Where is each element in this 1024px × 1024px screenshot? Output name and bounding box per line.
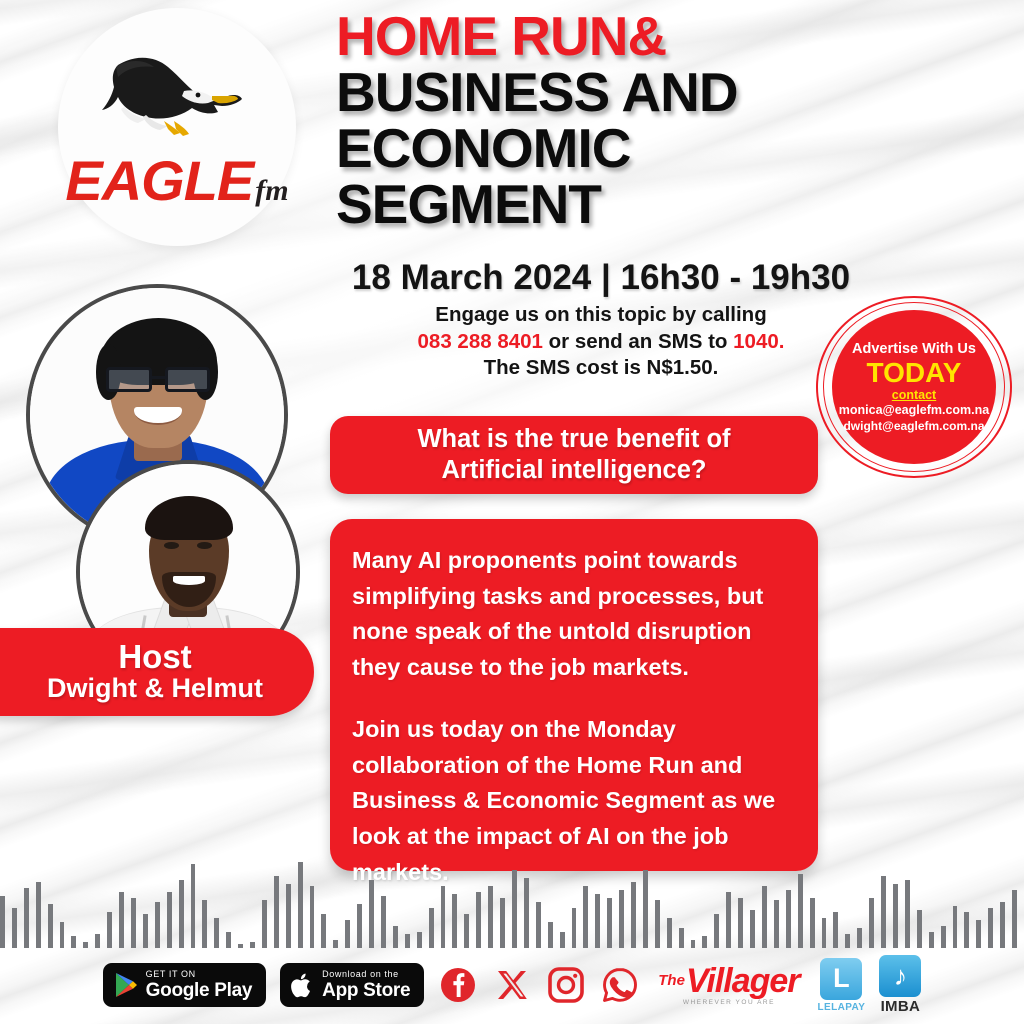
equalizer-bar <box>202 900 207 948</box>
equalizer-bar <box>357 904 362 948</box>
event-datetime: 18 March 2024 | 16h30 - 19h30 <box>336 258 866 298</box>
equalizer-bar <box>310 886 315 948</box>
equalizer-bar <box>1000 902 1005 948</box>
equalizer-bar <box>381 896 386 948</box>
advertise-circle: Advertise With Us TODAY contact monica@e… <box>832 310 996 464</box>
equalizer-bar <box>262 900 267 948</box>
sms-cost: The SMS cost is N$1.50. <box>336 355 866 382</box>
headline-line-2: BUSINESS AND <box>336 64 936 120</box>
equalizer-bar <box>917 910 922 948</box>
the-villager-logo[interactable]: The Villager WHEREVER YOU ARE <box>658 964 799 1006</box>
equalizer-bar <box>810 898 815 948</box>
equalizer-bar <box>583 886 588 948</box>
equalizer-bar <box>321 914 326 948</box>
equalizer-bar <box>905 880 910 948</box>
photo-eyeglasses <box>106 367 210 392</box>
sms-number: 1040. <box>733 330 784 353</box>
lelapay-tile: L <box>820 958 862 1000</box>
equalizer-bar <box>750 910 755 948</box>
villager-tagline: WHEREVER YOU ARE <box>683 999 775 1006</box>
equalizer-bar <box>702 936 707 948</box>
engage-line-1: Engage us on this topic by calling <box>336 302 866 329</box>
question-line-2: Artificial intelligence? <box>417 455 730 486</box>
lelapay-logo[interactable]: L LELAPAY <box>818 958 866 1013</box>
poster-root: EAGLE fm HOME RUN& BUSINESS AND ECONOMIC… <box>0 0 1024 1024</box>
equalizer-bar <box>572 908 577 948</box>
whatsapp-icon[interactable] <box>600 965 640 1005</box>
photo-eye-right <box>197 542 212 549</box>
apple-icon <box>291 972 314 999</box>
equalizer-bar <box>607 898 612 948</box>
equalizer-bar <box>941 926 946 948</box>
imba-label: IMBA <box>881 998 921 1015</box>
equalizer-bar <box>667 918 672 948</box>
logo-eagle-text: EAGLE <box>65 153 253 209</box>
advertise-badge[interactable]: Advertise With Us TODAY contact monica@e… <box>816 296 1014 486</box>
google-play-small-text: GET IT ON <box>146 970 253 979</box>
headline-line-4: SEGMENT <box>336 176 936 232</box>
equalizer-bar <box>679 928 684 948</box>
equalizer-bar <box>976 920 981 948</box>
equalizer-bar <box>857 928 862 948</box>
question-bubble: What is the true benefit of Artificial i… <box>330 416 818 494</box>
question-text: What is the true benefit of Artificial i… <box>417 424 730 486</box>
equalizer-bar <box>512 870 517 948</box>
headline-home-run: HOME RUN <box>336 5 627 67</box>
equalizer-bar <box>798 874 803 948</box>
equalizer-bar <box>691 940 696 948</box>
equalizer-bar <box>738 898 743 948</box>
advertise-heading: Advertise With Us <box>852 342 976 358</box>
app-store-small-text: Download on the <box>322 970 410 979</box>
audio-equalizer <box>0 866 1024 948</box>
photo-smile <box>173 576 205 585</box>
equalizer-bar <box>417 932 422 948</box>
equalizer-bar <box>226 932 231 948</box>
equalizer-bar <box>12 908 17 948</box>
equalizer-bar <box>631 882 636 948</box>
lelapay-label: LELAPAY <box>818 1002 866 1013</box>
equalizer-bar <box>71 936 76 948</box>
body-paragraph-1: Many AI proponents point towards simplif… <box>352 543 794 686</box>
logo-fm-text: fm <box>255 176 288 206</box>
footer-bar: GET IT ON Google Play Download on the Ap… <box>0 948 1024 1022</box>
imba-tile: ♪ <box>879 955 921 997</box>
engage-mid-text: or send an SMS to <box>543 330 733 353</box>
equalizer-bar <box>988 908 993 948</box>
equalizer-bar <box>393 926 398 948</box>
villager-wordmark: The Villager <box>658 964 799 998</box>
equalizer-bar <box>964 912 969 948</box>
equalizer-bar <box>167 892 172 948</box>
equalizer-bar <box>655 900 660 948</box>
equalizer-bar <box>24 888 29 948</box>
equalizer-bar <box>524 878 529 948</box>
equalizer-bar <box>274 876 279 948</box>
equalizer-bar <box>822 918 827 948</box>
google-play-badge[interactable]: GET IT ON Google Play <box>103 963 267 1007</box>
app-store-badge[interactable]: Download on the App Store <box>280 963 424 1007</box>
equalizer-bar <box>762 886 767 948</box>
advertise-email-1[interactable]: monica@eaglefm.com.na <box>839 403 989 419</box>
equalizer-bar <box>369 880 374 948</box>
equalizer-bar <box>774 900 779 948</box>
engage-line-2: 083 288 8401 or send an SMS to 1040. <box>336 329 866 356</box>
headline-block: HOME RUN& BUSINESS AND ECONOMIC SEGMENT <box>336 8 936 232</box>
equalizer-bar <box>845 934 850 948</box>
equalizer-bar <box>548 922 553 948</box>
equalizer-bar <box>786 890 791 948</box>
advertise-today: TODAY <box>867 359 962 387</box>
x-twitter-icon[interactable] <box>492 965 532 1005</box>
equalizer-bar <box>452 894 457 948</box>
lelapay-glyph: L <box>833 965 850 992</box>
body-paragraph-2: Join us today on the Monday collaboratio… <box>352 712 794 891</box>
app-store-label: App Store <box>322 981 410 1000</box>
equalizer-bar <box>560 932 565 948</box>
villager-the-text: The <box>658 972 685 989</box>
equalizer-bar <box>0 896 5 948</box>
equalizer-bar <box>143 914 148 948</box>
equalizer-bar <box>48 904 53 948</box>
phone-number: 083 288 8401 <box>418 330 543 353</box>
equalizer-bar <box>286 884 291 948</box>
equalizer-bar <box>476 892 481 948</box>
eagle-bird-icon <box>88 51 266 155</box>
advertise-contact-label: contact <box>892 388 936 403</box>
equalizer-bar <box>405 934 410 948</box>
equalizer-bar <box>953 906 958 948</box>
host-names: Dwight & Helmut <box>47 674 263 704</box>
eagle-fm-logo: EAGLE fm <box>58 8 296 246</box>
equalizer-bar <box>536 902 541 948</box>
equalizer-bar <box>333 940 338 948</box>
question-line-1: What is the true benefit of <box>417 424 730 455</box>
google-play-icon <box>114 972 138 998</box>
equalizer-bar <box>179 880 184 948</box>
equalizer-bar <box>298 862 303 948</box>
equalizer-bar <box>36 882 41 948</box>
equalizer-bar <box>619 890 624 948</box>
imba-logo[interactable]: ♪ IMBA <box>879 955 921 1015</box>
equalizer-bar <box>595 894 600 948</box>
villager-main-text: Villager <box>686 964 800 998</box>
equalizer-bar <box>95 934 100 948</box>
equalizer-bar <box>214 918 219 948</box>
host-label: Host <box>118 640 191 675</box>
engage-block: Engage us on this topic by calling 083 2… <box>336 302 866 382</box>
equalizer-bar <box>131 898 136 948</box>
body-bubble: Many AI proponents point towards simplif… <box>330 519 818 871</box>
equalizer-bar <box>119 892 124 948</box>
equalizer-bar <box>107 912 112 948</box>
equalizer-bar <box>714 914 719 948</box>
equalizer-bar <box>929 932 934 948</box>
equalizer-bar <box>1012 890 1017 948</box>
equalizer-bar <box>441 886 446 948</box>
equalizer-bar <box>429 908 434 948</box>
headline-line-3: ECONOMIC <box>336 120 936 176</box>
facebook-icon[interactable] <box>438 965 478 1005</box>
equalizer-bar <box>155 902 160 948</box>
equalizer-bar <box>881 876 886 948</box>
eyeglass-lens-right <box>165 367 211 392</box>
advertise-email-2[interactable]: dwight@eaglefm.com.na <box>843 419 984 434</box>
imba-glyph: ♪ <box>894 963 908 990</box>
equalizer-bar <box>500 898 505 948</box>
equalizer-bar <box>488 886 493 948</box>
equalizer-bar <box>464 914 469 948</box>
equalizer-bar <box>869 898 874 948</box>
equalizer-bar <box>60 922 65 948</box>
instagram-icon[interactable] <box>546 965 586 1005</box>
google-play-label: Google Play <box>146 981 253 1000</box>
host-bubble: Host Dwight & Helmut <box>0 628 314 716</box>
eyeglass-bridge <box>151 376 166 379</box>
headline-line-1: HOME RUN& <box>336 8 936 64</box>
equalizer-bar <box>643 870 648 948</box>
headline-ampersand: & <box>627 5 666 67</box>
equalizer-bar <box>345 920 350 948</box>
equalizer-bar <box>191 864 196 948</box>
eyeglass-lens-left <box>106 367 152 392</box>
equalizer-bar <box>833 912 838 948</box>
equalizer-bar <box>726 892 731 948</box>
equalizer-bar <box>893 884 898 948</box>
